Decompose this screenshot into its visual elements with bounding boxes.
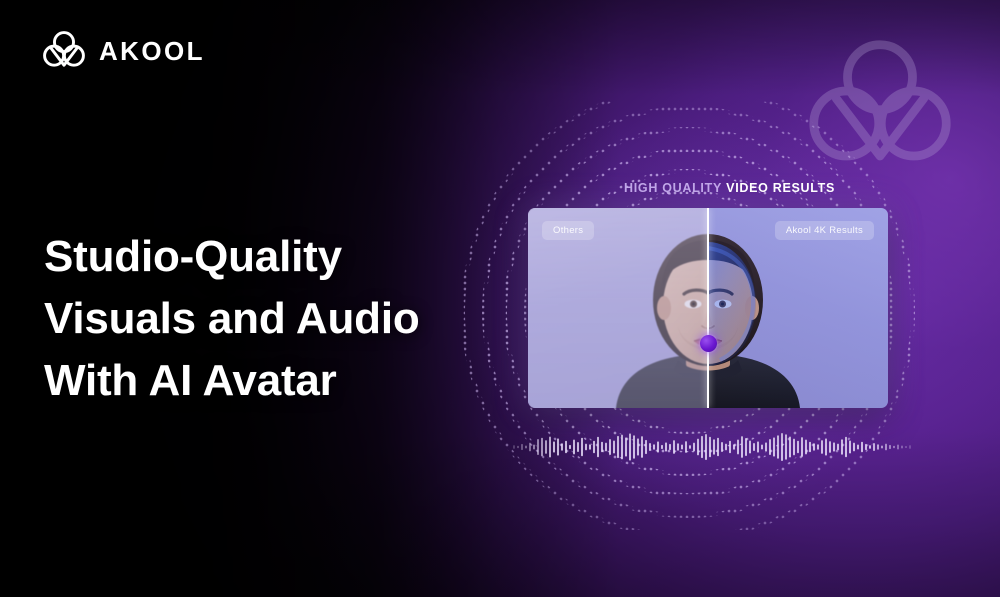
headline-line-3: With AI Avatar (44, 350, 420, 412)
brand-logo[interactable]: AKOOL (42, 30, 205, 72)
banner-emphasis: HIGH QUALITY (624, 181, 722, 195)
headline-line-1: Studio-Quality (44, 226, 420, 288)
banner-caption: HIGH QUALITY VIDEO RESULTS (624, 181, 835, 195)
brand-wordmark: AKOOL (99, 38, 205, 64)
comparison-divider-line[interactable] (707, 208, 709, 408)
akool-trefoil-logo-icon (42, 30, 86, 72)
comparison-slider-handle-icon[interactable] (700, 335, 717, 352)
headline-line-2: Visuals and Audio (44, 288, 420, 350)
page-title: Studio-Quality Visuals and Audio With AI… (44, 226, 420, 412)
comparison-left-label: Others (542, 221, 594, 240)
video-comparison-panel[interactable]: Others Akool 4K Results (528, 208, 888, 408)
promo-banner: AKOOL (0, 0, 1000, 597)
audio-waveform-icon (512, 416, 912, 478)
comparison-right-label: Akool 4K Results (775, 221, 874, 240)
banner-rest: VIDEO RESULTS (726, 181, 835, 195)
